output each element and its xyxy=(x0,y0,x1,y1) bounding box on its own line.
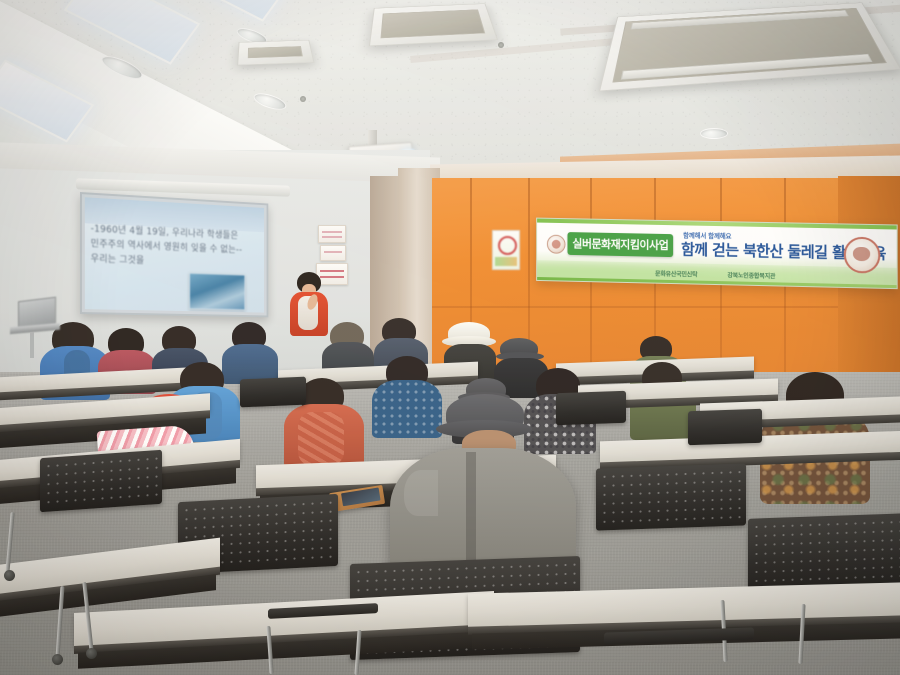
attendee-pattern-dots xyxy=(372,380,442,438)
chair-back xyxy=(596,463,746,530)
chair-perforation xyxy=(752,517,900,590)
banner-program-badge: 실버문화재지킴이사업 xyxy=(567,232,673,257)
wall-panel-seam xyxy=(432,306,900,308)
chair-perforation xyxy=(44,454,158,508)
table-caster xyxy=(52,654,63,665)
ac-grille xyxy=(248,46,303,58)
chair-back xyxy=(40,450,162,513)
ac-grille xyxy=(380,9,485,38)
chair-perforation xyxy=(600,468,742,527)
wall-poster-small xyxy=(318,225,346,243)
slide-image-thumbnail xyxy=(189,273,245,311)
sprinkler-head xyxy=(300,96,306,102)
poster-line xyxy=(322,236,342,238)
table-caster xyxy=(86,648,97,659)
ceiling-ac-cassette-mid xyxy=(369,3,498,46)
chair-back xyxy=(240,377,306,408)
event-banner: 실버문화재지킴이사업 함께해서 함께해요 함께 걷는 북한산 둘레길 활동교육 … xyxy=(536,218,898,290)
poster-line xyxy=(324,251,342,253)
table-caster xyxy=(4,570,15,581)
banner-sponsor-left: 문화유산국민신탁 xyxy=(655,269,697,279)
poster-line xyxy=(322,231,342,233)
ceiling-ac-cassette-small xyxy=(237,40,314,66)
heritage-mascot-logo-icon xyxy=(844,237,881,274)
chair-back xyxy=(688,409,762,446)
wall-poster-right xyxy=(492,230,520,270)
slide-text: -1960년 4월 19일, 우리나라 학생들은 민주주의 역사에서 영원히 잊… xyxy=(91,222,260,273)
poster-line xyxy=(320,276,344,278)
poster-line xyxy=(320,270,344,272)
seminar-room-photo: -1960년 4월 19일, 우리나라 학생들은 민주주의 역사에서 영원히 잊… xyxy=(0,0,900,675)
wall-poster-small xyxy=(320,245,346,261)
shirt-fold xyxy=(404,470,438,516)
chair-back xyxy=(556,391,626,425)
ceiling-speaker xyxy=(700,128,728,139)
projection-surface: -1960년 4월 19일, 우리나라 학생들은 민주주의 역사에서 영원히 잊… xyxy=(85,197,264,312)
sprinkler-head xyxy=(498,42,504,48)
banner-sponsor-right: 강북노인종합복지관 xyxy=(727,270,775,280)
heritage-seal-icon xyxy=(547,235,566,254)
laptop-stand-pole xyxy=(30,332,34,358)
attendee-pattern xyxy=(298,412,344,466)
projection-screen: -1960년 4월 19일, 우리나라 학생들은 민주주의 역사에서 영원히 잊… xyxy=(80,192,268,317)
